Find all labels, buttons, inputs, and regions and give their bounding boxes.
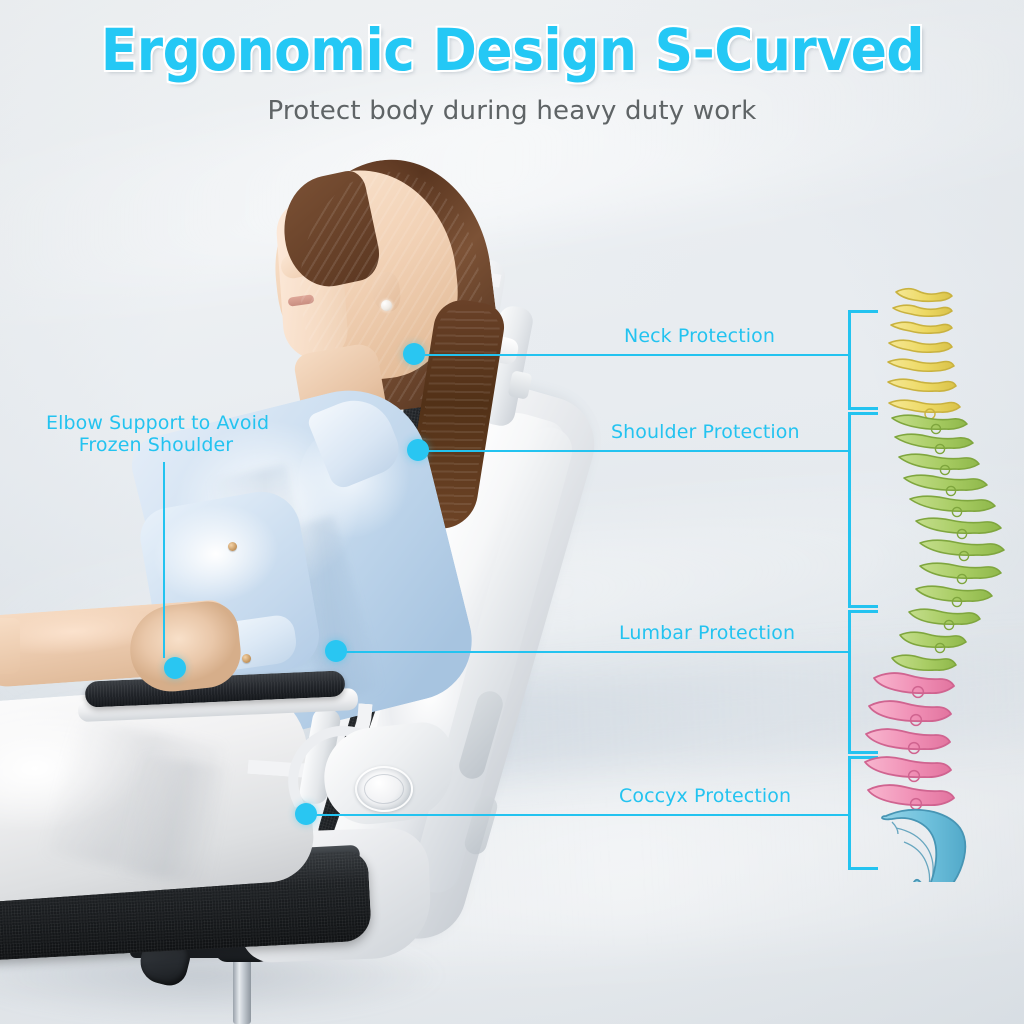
human-spine-diagram: cervical-vertebrae thoracic-vertebrae lu… — [852, 282, 1024, 882]
page-title: Ergonomic Design S-Curved — [100, 16, 923, 84]
thoracic-vertebrae — [892, 415, 1004, 670]
shirt-button — [228, 542, 237, 551]
callout-label-shoulder-protection: Shoulder Protection — [611, 421, 800, 443]
trousers-fold — [122, 754, 228, 885]
promo-image-canvas: Ergonomic Design S-Curved Protect body d… — [0, 0, 1024, 1024]
callout-leader-line-coccyx — [316, 814, 850, 816]
tension-adjust-knob — [355, 766, 413, 812]
bracket-spine — [848, 610, 851, 754]
callout-line-2: Frozen Shoulder — [79, 434, 233, 456]
callout-leader-line-shoulder — [428, 450, 850, 452]
callout-leader-line-lumbar — [346, 651, 850, 653]
callout-dot-neck-protection — [403, 343, 425, 365]
callout-dot-lumbar-protection — [325, 640, 347, 662]
callout-dot-shoulder-protection — [407, 439, 429, 461]
sacrum-coccyx — [882, 810, 965, 882]
woman-seated-in-ergonomic-office-chair — [0, 0, 700, 1024]
callout-dot-coccyx-protection — [295, 803, 317, 825]
bracket-spine — [848, 412, 851, 608]
chair-gas-cylinder — [233, 952, 251, 1024]
lumbar-vertebrae — [865, 673, 954, 805]
callout-dot-elbow-support — [164, 657, 186, 679]
hand — [0, 618, 20, 674]
callout-label-lumbar-protection: Lumbar Protection — [619, 622, 795, 644]
callout-label-neck-protection: Neck Protection — [624, 325, 775, 347]
headline-wrap: Ergonomic Design S-Curved — [0, 16, 1024, 84]
callout-label-coccyx-protection: Coccyx Protection — [619, 785, 791, 807]
bracket-spine — [848, 756, 851, 870]
bracket-spine — [848, 310, 851, 410]
sacrum-detail — [892, 822, 933, 882]
page-subtitle: Protect body during heavy duty work — [0, 96, 1024, 126]
callout-leader-line-elbow — [163, 462, 165, 658]
callout-line-1: Elbow Support to Avoid — [46, 412, 269, 434]
callout-leader-line-neck — [424, 354, 850, 356]
cervical-vertebrae — [888, 289, 960, 413]
shirt-button — [242, 654, 251, 663]
callout-label-elbow-support: Elbow Support to Avoid Frozen Shoulder — [46, 412, 266, 456]
